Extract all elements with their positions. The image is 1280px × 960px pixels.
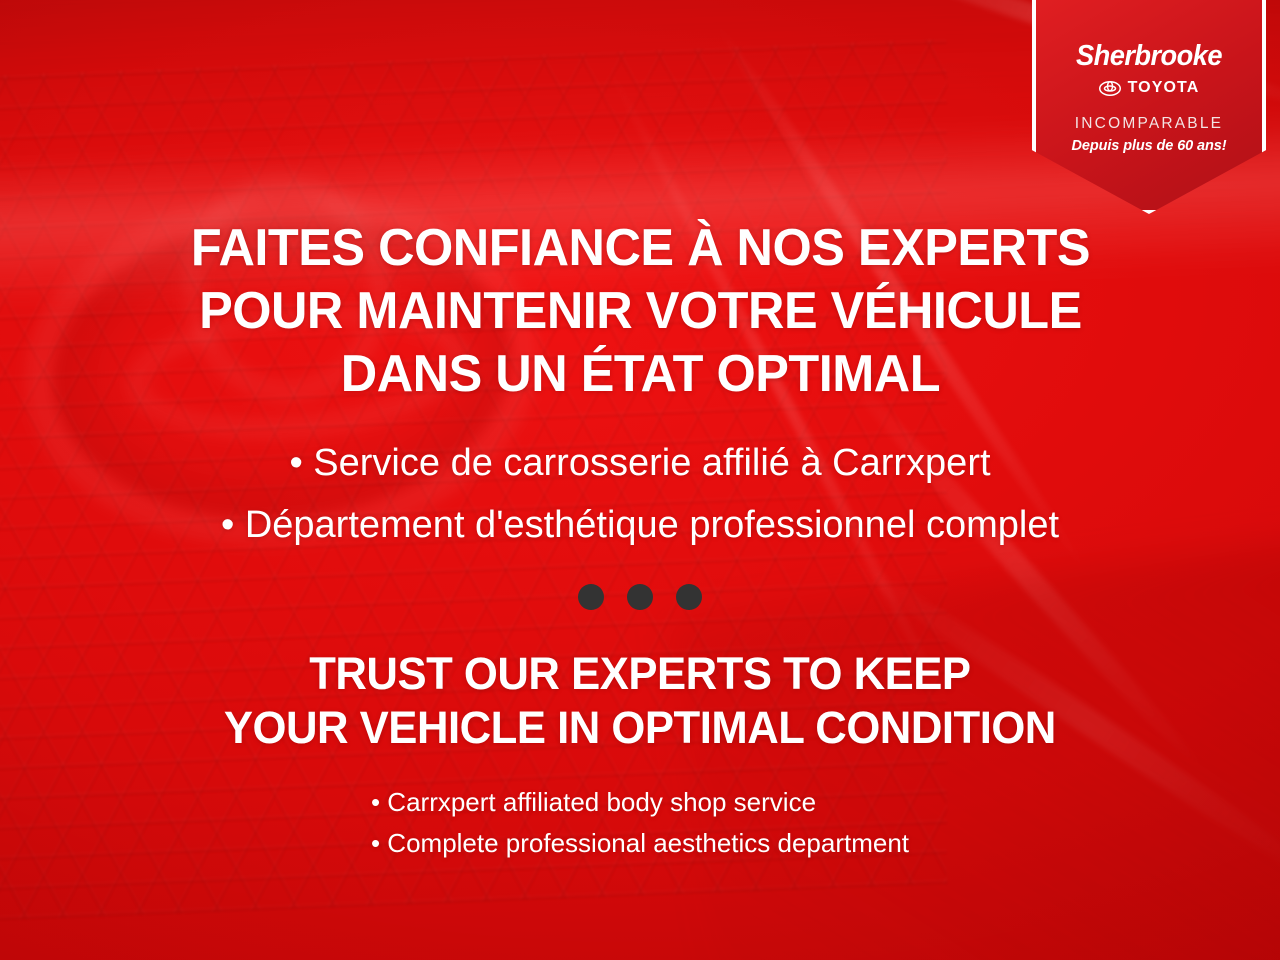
headline-french: FAITES CONFIANCE À NOS EXPERTS POUR MAIN… xyxy=(177,222,1104,411)
headline-english-line: TRUST OUR EXPERTS TO KEEP xyxy=(224,651,1056,696)
dot-divider xyxy=(578,584,702,610)
badge-tagline: INCOMPARABLE xyxy=(1036,116,1262,132)
divider-dot xyxy=(676,584,702,610)
divider-dot xyxy=(627,584,653,610)
headline-french-line: DANS UN ÉTAT OPTIMAL xyxy=(190,348,1089,400)
headline-french-line: POUR MAINTENIR VOTRE VÉHICULE xyxy=(190,285,1089,337)
toyota-marque: TOYOTA xyxy=(1036,80,1262,96)
dealership-wordmark: Sherbrooke xyxy=(1043,42,1255,71)
badge-subtagline: Depuis plus de 60 ans! xyxy=(1036,139,1262,154)
bullet-item-english: • Complete professional aesthetics depar… xyxy=(371,830,909,856)
bullet-list-french: • Service de carrosserie affilié à Carrx… xyxy=(221,444,1059,568)
headline-english: TRUST OUR EXPERTS TO KEEP YOUR VEHICLE I… xyxy=(211,651,1069,759)
promotional-banner: Sherbrooke TOYOTA INCOMPARABLE Depuis pl… xyxy=(0,0,1280,960)
toyota-marque-label: TOYOTA xyxy=(1128,80,1200,96)
divider-dot xyxy=(578,584,604,610)
headline-english-line: YOUR VEHICLE IN OPTIMAL CONDITION xyxy=(224,705,1056,750)
toyota-emblem-icon xyxy=(1099,81,1121,96)
bullet-list-english: • Carrxpert affiliated body shop service… xyxy=(371,789,909,871)
bullet-item-french: • Département d'esthétique professionnel… xyxy=(221,506,1059,544)
headline-french-line: FAITES CONFIANCE À NOS EXPERTS xyxy=(190,222,1089,274)
bullet-item-english: • Carrxpert affiliated body shop service xyxy=(371,789,909,815)
bullet-item-french: • Service de carrosserie affilié à Carrx… xyxy=(221,444,1059,482)
